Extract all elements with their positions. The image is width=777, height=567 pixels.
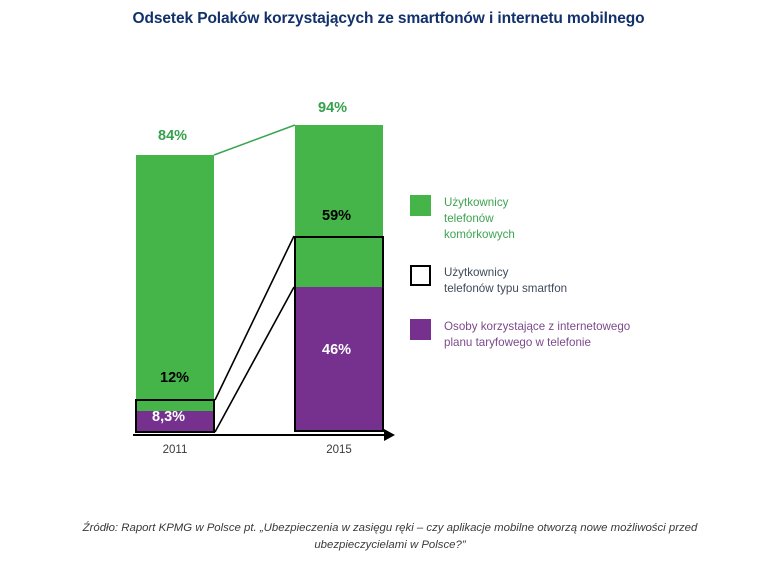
legend-swatch-outline-icon [410,265,431,286]
x-axis-line [133,434,385,436]
legend-label-smartphone-users: Użytkownicy telefonów typu smartfon [444,265,567,297]
bar-2011-mobile-users-segment [136,155,214,400]
label-2015-total: 94% [318,100,347,116]
label-2015-data-plan: 46% [322,342,351,358]
legend-item-mobile-users[interactable]: Użytkownicy telefonów komórkowych [410,195,710,243]
legend-label-mobile-users: Użytkownicy telefonów komórkowych [444,195,515,243]
bar-2015-data-plan-segment [295,287,383,431]
legend-label-data-plan-users: Osoby korzystające z internetowego planu… [444,319,630,351]
label-2011-data-plan: 8,3% [152,409,185,425]
x-axis-arrow-icon [384,429,395,441]
legend-swatch-green-icon [410,195,431,216]
x-tick-label-2011: 2011 [136,444,214,456]
bar-2015-mobile-users-segment [295,125,383,287]
x-tick-label-2015: 2015 [295,444,383,456]
chart-legend: Użytkownicy telefonów komórkowych Użytko… [410,195,710,373]
legend-item-data-plan-users[interactable]: Osoby korzystające z internetowego planu… [410,319,710,351]
legend-swatch-purple-icon [410,319,431,340]
label-2011-total: 84% [158,128,187,144]
label-2015-smartphone: 59% [322,208,351,224]
source-note: Źródło: Raport KPMG w Polsce pt. „Ubezpi… [60,520,720,553]
label-2011-smartphone: 12% [160,370,189,386]
legend-item-smartphone-users[interactable]: Użytkownicy telefonów typu smartfon [410,265,710,297]
